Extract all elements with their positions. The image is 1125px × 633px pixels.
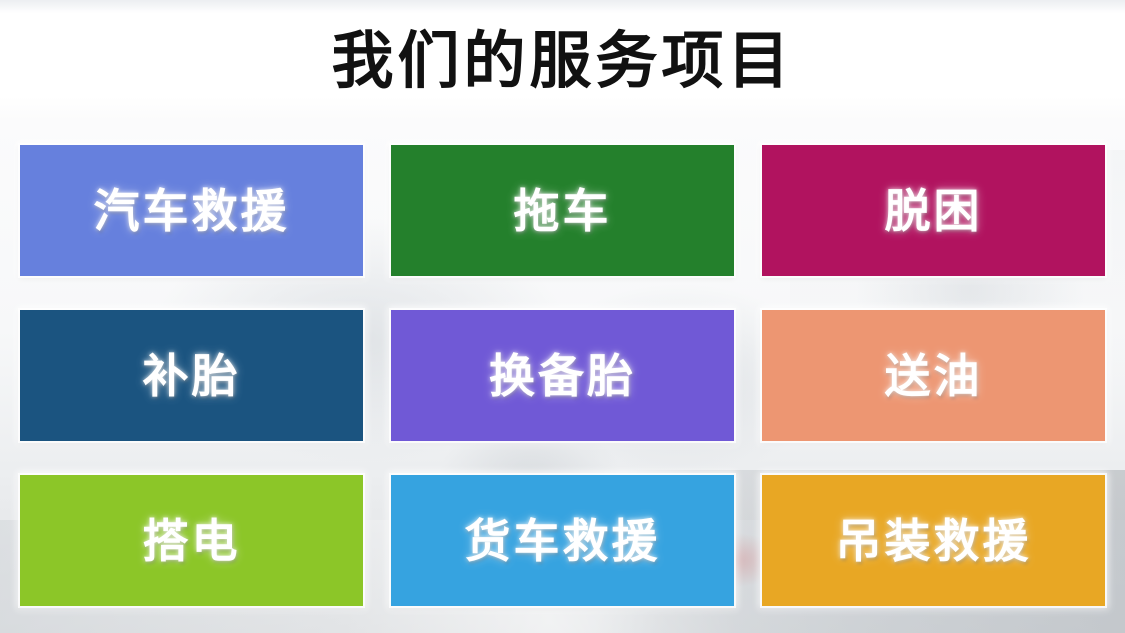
service-tile-tuokun[interactable]: 脱困 (762, 145, 1105, 276)
service-tile-label: 补胎 (143, 353, 241, 399)
service-tile-label: 搭电 (143, 518, 241, 564)
service-tile-label: 货车救援 (465, 518, 661, 564)
service-tile-tuoche[interactable]: 拖车 (391, 145, 734, 276)
service-tile-label: 吊装救援 (836, 518, 1032, 564)
service-tile-diaozhuang-jiuyuan[interactable]: 吊装救援 (762, 475, 1105, 606)
service-poster: 我们的服务项目 汽车救援 拖车 脱困 补胎 换备胎 送油 搭电 货车救援 吊装救… (0, 0, 1125, 633)
page-title: 我们的服务项目 (0, 22, 1125, 102)
service-tile-huoche-jiuyuan[interactable]: 货车救援 (391, 475, 734, 606)
service-grid: 汽车救援 拖车 脱困 补胎 换备胎 送油 搭电 货车救援 吊装救援 (20, 145, 1105, 615)
service-tile-label: 换备胎 (489, 353, 636, 399)
service-tile-huanbeitai[interactable]: 换备胎 (391, 310, 734, 441)
background-top-strip (0, 0, 1125, 10)
service-tile-label: 送油 (885, 353, 983, 399)
service-tile-butai[interactable]: 补胎 (20, 310, 363, 441)
service-tile-dadian[interactable]: 搭电 (20, 475, 363, 606)
service-tile-label: 汽车救援 (94, 188, 290, 234)
service-tile-qiche-jiuyuan[interactable]: 汽车救援 (20, 145, 363, 276)
service-tile-songyou[interactable]: 送油 (762, 310, 1105, 441)
service-tile-label: 拖车 (514, 188, 612, 234)
service-tile-label: 脱困 (885, 188, 983, 234)
